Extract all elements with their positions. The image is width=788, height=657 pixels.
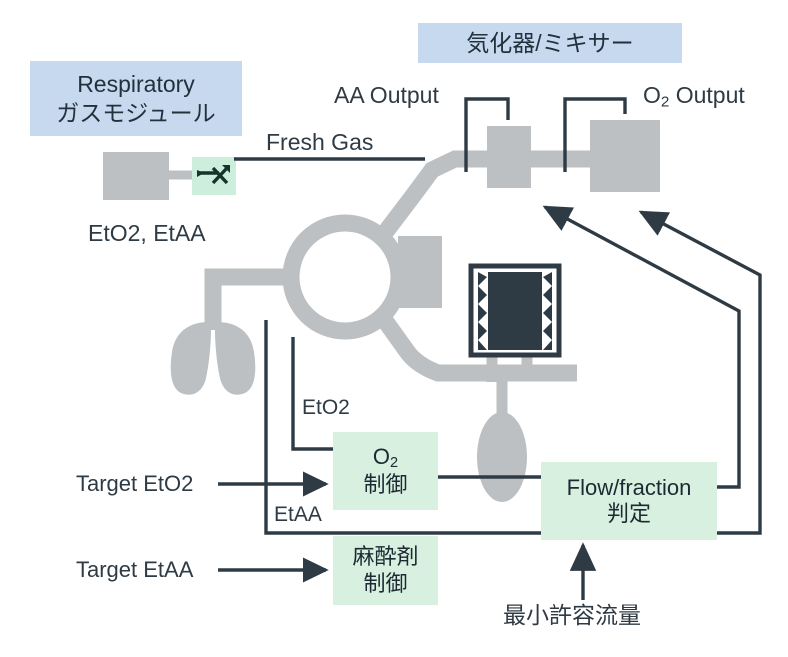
expiratory-limb-tube bbox=[381, 315, 470, 373]
o2-mixer-box bbox=[590, 120, 660, 192]
bellows-fill bbox=[488, 272, 542, 350]
aa-output-label: AA Output bbox=[334, 82, 439, 108]
reservoir-bag-icon bbox=[477, 412, 527, 502]
flow-fraction-line2: 判定 bbox=[607, 501, 651, 527]
lungs-icon bbox=[171, 322, 256, 395]
patient-limb-tube bbox=[213, 277, 291, 330]
respiratory-gas-module-line1: Respiratory bbox=[77, 70, 195, 98]
min-allowable-flow-label: 最小許容流量 bbox=[503, 602, 641, 628]
anesthetic-control-line1: 麻酔剤 bbox=[352, 544, 418, 570]
eto2-feedback-label: EtO2 bbox=[302, 396, 350, 420]
gas-sampling-valve bbox=[192, 157, 236, 195]
respiratory-gas-module-line2: ガスモジュール bbox=[56, 99, 215, 127]
vaporizer-mixer-label: 気化器/ミキサー bbox=[466, 29, 633, 57]
eto2-feedback-line bbox=[293, 337, 333, 449]
diagram-canvas: Respiratory ガスモジュール 気化器/ミキサー O2 制御 麻酔剤 制… bbox=[0, 0, 788, 657]
respiratory-gas-module-header: Respiratory ガスモジュール bbox=[30, 61, 242, 136]
co2-absorber-canister bbox=[398, 236, 442, 308]
aa-vaporizer-box bbox=[487, 126, 531, 188]
anesthetic-control-box: 麻酔剤 制御 bbox=[333, 536, 438, 605]
sensor-outputs-label: EtO2, EtAA bbox=[88, 220, 206, 246]
o2-control-line1: O2 bbox=[373, 444, 398, 473]
fresh-gas-label: Fresh Gas bbox=[266, 129, 373, 155]
flow-fraction-box: Flow/fraction 判定 bbox=[541, 462, 717, 540]
o2-control-line2: 制御 bbox=[363, 472, 407, 498]
o2-control-box: O2 制御 bbox=[333, 432, 438, 510]
flow-fraction-line1: Flow/fraction bbox=[567, 475, 692, 501]
target-eto2-label: Target EtO2 bbox=[76, 471, 193, 496]
gas-sensor-box bbox=[103, 152, 169, 200]
target-etaa-label: Target EtAA bbox=[76, 557, 193, 582]
fresh-gas-tube bbox=[381, 159, 487, 238]
etaa-feedback-label: EtAA bbox=[274, 503, 322, 527]
bellows-icon bbox=[471, 266, 559, 355]
vaporizer-mixer-header: 気化器/ミキサー bbox=[418, 23, 682, 63]
anesthetic-control-line2: 制御 bbox=[363, 571, 407, 597]
o2-output-label: O2 Output bbox=[643, 82, 745, 111]
